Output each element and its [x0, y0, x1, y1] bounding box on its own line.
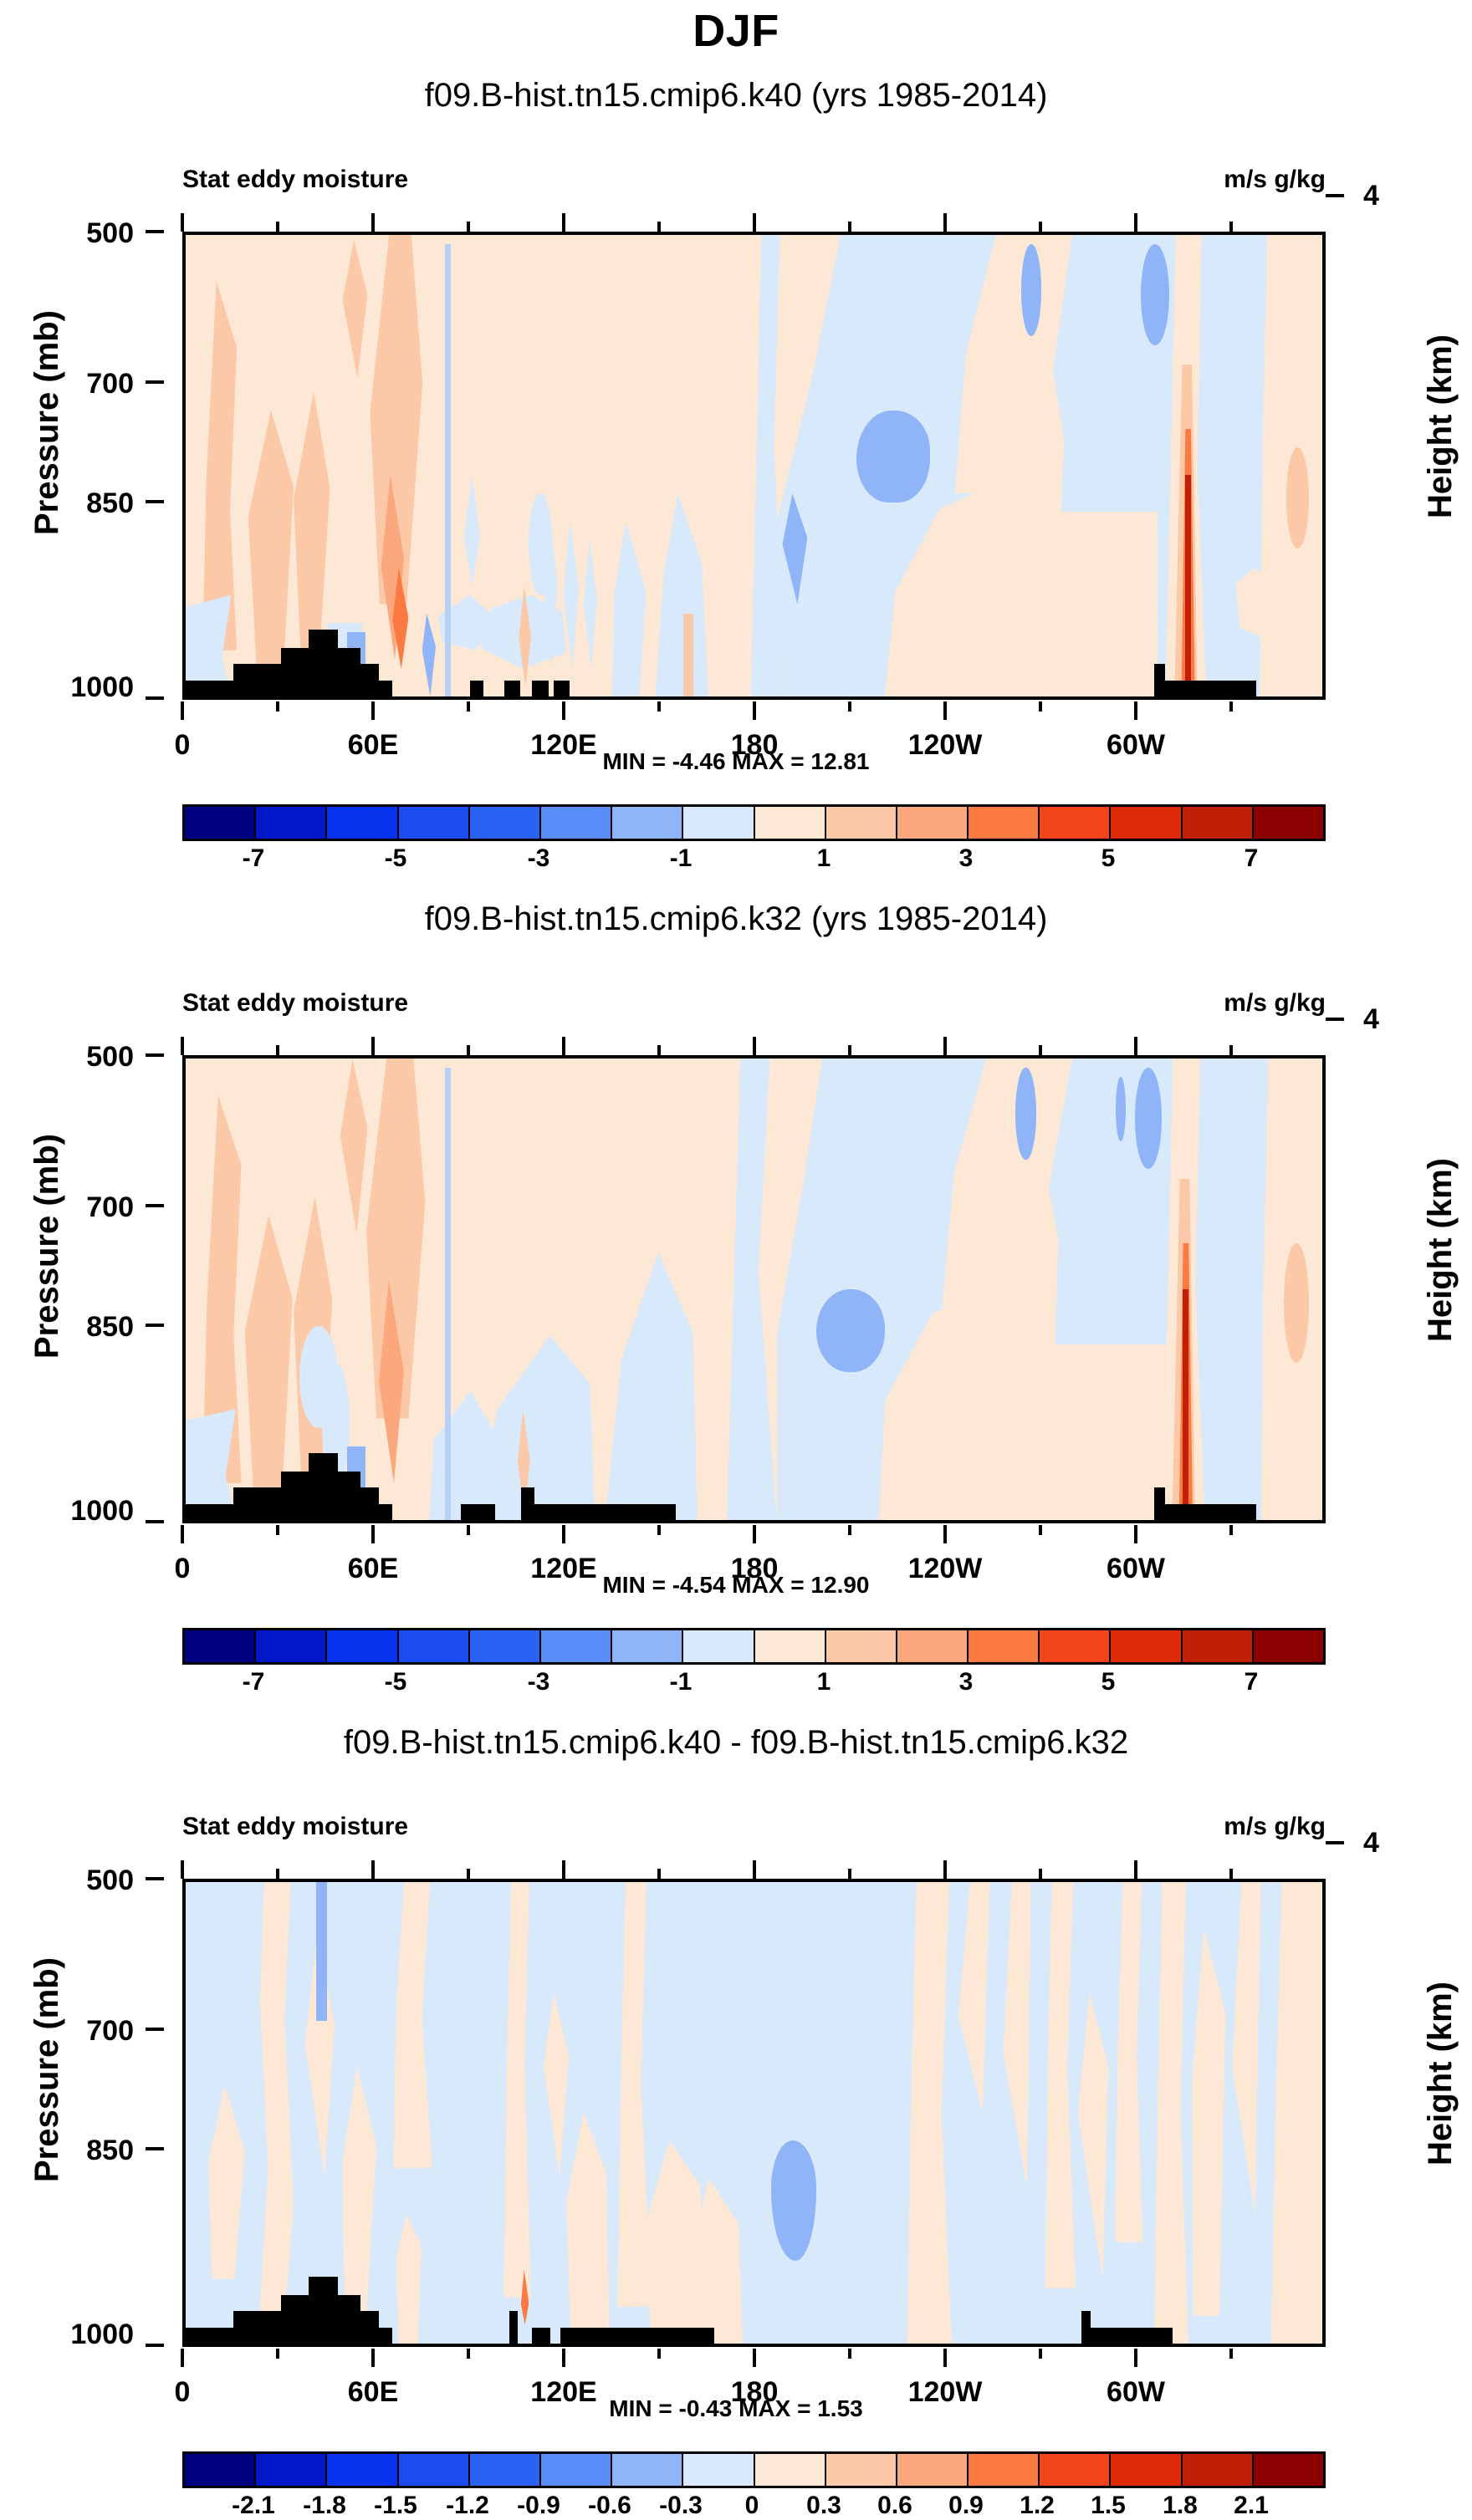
panel-3-xtick-minor: [1039, 2349, 1042, 2359]
panel-1-xtick-top: [753, 213, 756, 232]
panel-3-units-label: m/s g/kg: [1224, 1813, 1326, 1841]
colorbar-cell: [1254, 2454, 1323, 2486]
panel-1-variable-label: Stat eddy moisture: [182, 166, 408, 194]
panel-3-xtick-minor: [276, 2349, 279, 2359]
panel-3-plot-area: [182, 1879, 1326, 2347]
panel-3-xtick-top: [181, 1860, 184, 1879]
panel-1-cbar-label: -5: [385, 844, 407, 873]
panel-2-cbar-label: 7: [1245, 1668, 1259, 1696]
panel-3-ytick-mark: [146, 1877, 164, 1880]
panel-3-title: f09.B-hist.tn15.cmip6.k40 - f09.B-hist.t…: [0, 1724, 1472, 1762]
colorbar-cell: [185, 807, 256, 839]
panel-3-xtick-minor: [1229, 2349, 1233, 2359]
panel-1-xtick-top-minor: [657, 222, 661, 232]
colorbar-cell: [612, 807, 683, 839]
panel-2-xtick-mark: [943, 1525, 947, 1543]
panel-3-variable-label: Stat eddy moisture: [182, 1813, 408, 1841]
panel-1-cbar-label: 1: [817, 844, 831, 873]
panel-3-xtick-top-minor: [1229, 1869, 1233, 1879]
panel-2-cbar-label: -7: [243, 1668, 265, 1696]
colorbar-cell: [327, 807, 398, 839]
panel-2-xtick-mark: [753, 1525, 756, 1543]
panel-2-colorbar[interactable]: [182, 1628, 1326, 1665]
panel-2-ytick-1000: 1000: [0, 1495, 134, 1528]
panel-1-title: f09.B-hist.tn15.cmip6.k40 (yrs 1985-2014…: [0, 77, 1472, 115]
colorbar-cell: [1183, 807, 1254, 839]
panel-1-xtick-minor: [848, 701, 851, 712]
panel-3-ytick-850: 850: [25, 2135, 134, 2167]
panel-2-minmax: MIN = -4.54 MAX = 12.90: [0, 1572, 1472, 1599]
panel-3-cbar-label: 2.1: [1234, 2492, 1269, 2520]
panel-3-cbar-label: -1.2: [446, 2492, 489, 2520]
panel-3-xtick-mark: [753, 2349, 756, 2367]
panel-3-ytick-mark: [146, 2028, 164, 2031]
panel-2-field: [186, 1059, 1322, 1520]
colorbar-cell: [1111, 807, 1182, 839]
panel-3-cbar-label: 0: [745, 2492, 759, 2520]
panel-1-colorbar[interactable]: [182, 804, 1326, 841]
panel-2-xtick-minor: [848, 1525, 851, 1535]
panel-2-xtick-minor: [657, 1525, 661, 1535]
colorbar-cell: [1254, 1630, 1323, 1662]
panel-1-cbar-label: -3: [528, 844, 550, 873]
panel-2-cbar-label: -5: [385, 1668, 407, 1696]
colorbar-cell: [1254, 807, 1323, 839]
panel-1-xtick-top: [371, 213, 375, 232]
panel-1-xtick-mark: [1134, 701, 1137, 720]
panel-1-ytick-mark: [146, 380, 164, 384]
colorbar-cell: [185, 2454, 256, 2486]
colorbar-cell: [327, 1630, 398, 1662]
panel-3-xtick-top: [562, 1860, 565, 1879]
panel-3-xtick-top-minor: [467, 1869, 470, 1879]
panel-1-xtick-mark: [943, 701, 947, 720]
panel-1-xtick-minor: [1229, 701, 1233, 712]
panel-2-xtick-mark: [562, 1525, 565, 1543]
colorbar-cell: [969, 807, 1040, 839]
panel-3-ytick-mark: [146, 2344, 164, 2347]
panel-2-ytick-850: 850: [25, 1311, 134, 1344]
panel-3-xtick-top-minor: [848, 1869, 851, 1879]
panel-1-xtick-top: [562, 213, 565, 232]
panel-2-xtick-top: [181, 1037, 184, 1055]
figure-main-title: DJF: [0, 5, 1472, 57]
colorbar-cell: [755, 2454, 826, 2486]
panel-2-xtick-top-minor: [1229, 1045, 1233, 1055]
panel-3-cbar-label: -2.1: [232, 2492, 275, 2520]
panel-3-cbar-label: -0.6: [588, 2492, 631, 2520]
panel-2-cbar-label: -1: [670, 1668, 693, 1696]
colorbar-cell: [256, 1630, 327, 1662]
colorbar-cell: [541, 807, 612, 839]
panel-3-field: [186, 1882, 1322, 2344]
colorbar-cell: [1183, 1630, 1254, 1662]
panel-2-xtick-mark: [1134, 1525, 1137, 1543]
panel-1-xtick-minor: [657, 701, 661, 712]
panel-2-xtick-top: [943, 1037, 947, 1055]
panel-3-xtick-minor: [848, 2349, 851, 2359]
panel-1-xtick-top-minor: [1229, 222, 1233, 232]
colorbar-cell: [612, 2454, 683, 2486]
panel-1-ytick-1000: 1000: [0, 671, 134, 704]
panel-2-plot-area: [182, 1055, 1326, 1523]
colorbar-cell: [897, 807, 969, 839]
panel-2-ytick-700: 700: [25, 1191, 134, 1224]
panel-1-xtick-minor: [1039, 701, 1042, 712]
colorbar-cell: [826, 807, 897, 839]
colorbar-cell: [755, 1630, 826, 1662]
panel-1-cbar-label: 7: [1245, 844, 1259, 873]
panel-1-minmax: MIN = -4.46 MAX = 12.81: [0, 748, 1472, 775]
panel-2-ytick-mark: [146, 1053, 164, 1057]
panel-2-xtick-top: [371, 1037, 375, 1055]
panel-3-xtick-top: [753, 1860, 756, 1879]
panel-2-xtick-minor: [467, 1525, 470, 1535]
colorbar-cell: [1040, 807, 1111, 839]
panel-2-cbar-label: 3: [959, 1668, 974, 1696]
colorbar-cell: [470, 807, 541, 839]
panel-1-units-label: m/s g/kg: [1224, 166, 1326, 194]
panel-2-xtick-top: [753, 1037, 756, 1055]
colorbar-cell: [399, 2454, 470, 2486]
panel-3-xtick-top-minor: [1039, 1869, 1042, 1879]
panel-3-xtick-top-minor: [657, 1869, 661, 1879]
panel-1-xtick-top-minor: [276, 222, 279, 232]
panel-2-xtick-top-minor: [657, 1045, 661, 1055]
panel-3-cbar-label: 1.8: [1163, 2492, 1198, 2520]
panel-2-xtick-top: [562, 1037, 565, 1055]
colorbar-cell: [1040, 2454, 1111, 2486]
panel-2-xtick-minor: [276, 1525, 279, 1535]
panel-2-variable-label: Stat eddy moisture: [182, 989, 408, 1018]
panel-1-cbar-label: -7: [243, 844, 265, 873]
panel-1-xtick-top-minor: [848, 222, 851, 232]
panel-1-ytick-mark: [146, 230, 164, 233]
panel-3-xtick-mark: [562, 2349, 565, 2367]
panel-1-xtick-mark: [371, 701, 375, 720]
panel-3-cbar-label: 0.6: [877, 2492, 912, 2520]
colorbar-cell: [256, 807, 327, 839]
colorbar-cell: [256, 2454, 327, 2486]
panel-3-cbar-label: -0.9: [517, 2492, 560, 2520]
panel-1-xtick-top: [943, 213, 947, 232]
panel-3-xtick-top: [1134, 1860, 1137, 1879]
colorbar-cell: [612, 1630, 683, 1662]
panel-3-minmax: MIN = -0.43 MAX = 1.53: [0, 2395, 1472, 2422]
panel-3-xtick-minor: [467, 2349, 470, 2359]
colorbar-cell: [1111, 1630, 1182, 1662]
panel-3-xtick-top: [371, 1860, 375, 1879]
panel-2-xtick-minor: [1039, 1525, 1042, 1535]
panel-3-y-axis-right-title: Height (km): [1422, 1982, 1459, 2165]
colorbar-cell: [969, 1630, 1040, 1662]
panel-2-xtick-top-minor: [276, 1045, 279, 1055]
colorbar-cell: [755, 807, 826, 839]
panel-3-xtick-mark: [181, 2349, 184, 2367]
panel-3-cbar-label: 0.9: [948, 2492, 984, 2520]
panel-1-cbar-label: -1: [670, 844, 693, 873]
colorbar-cell: [683, 807, 754, 839]
panel-3-ytick-1000: 1000: [0, 2319, 134, 2351]
panel-2-ytick-mark: [146, 1520, 164, 1523]
panel-3-cbar-label: 1.5: [1091, 2492, 1126, 2520]
panel-2-xtick-minor: [1229, 1525, 1233, 1535]
colorbar-cell: [683, 1630, 754, 1662]
panel-2-ytick-500: 500: [25, 1041, 134, 1074]
panel-2-xtick-top: [1134, 1037, 1137, 1055]
colorbar-cell: [399, 807, 470, 839]
panel-1-xtick-minor: [467, 701, 470, 712]
panel-2-xtick-top-minor: [467, 1045, 470, 1055]
panel-1-ytick-500: 500: [25, 217, 134, 250]
panel-1-xtick-mark: [562, 701, 565, 720]
panel-2-ytick-mark: [146, 1204, 164, 1207]
colorbar-cell: [185, 1630, 256, 1662]
panel-2-xtick-mark: [181, 1525, 184, 1543]
panel-2-xtick-top-minor: [848, 1045, 851, 1055]
panel-2-yright-4: 4: [1363, 1003, 1379, 1036]
colorbar-cell: [897, 2454, 969, 2486]
panel-1-ytick-mark: [146, 696, 164, 700]
panel-1-y-axis-right-title: Height (km): [1422, 334, 1459, 518]
panel-2-cbar-label: -3: [528, 1668, 550, 1696]
panel-1-yright-tick-mark: [1326, 194, 1344, 197]
colorbar-cell: [541, 1630, 612, 1662]
colorbar-cell: [1183, 2454, 1254, 2486]
panel-3-cbar-label: 0.3: [806, 2492, 841, 2520]
panel-1-xtick-top-minor: [467, 222, 470, 232]
colorbar-cell: [541, 2454, 612, 2486]
panel-3-xtick-mark: [943, 2349, 947, 2367]
panel-3-ytick-500: 500: [25, 1864, 134, 1897]
panel-1-xtick-mark: [753, 701, 756, 720]
panel-1-ytick-mark: [146, 500, 164, 503]
panel-2-units-label: m/s g/kg: [1224, 989, 1326, 1018]
colorbar-cell: [399, 1630, 470, 1662]
colorbar-cell: [826, 2454, 897, 2486]
panel-1-xtick-top: [1134, 213, 1137, 232]
panel-2-title: f09.B-hist.tn15.cmip6.k32 (yrs 1985-2014…: [0, 900, 1472, 938]
colorbar-cell: [327, 2454, 398, 2486]
colorbar-cell: [683, 2454, 754, 2486]
panel-2-xtick-mark: [371, 1525, 375, 1543]
panel-1-yright-4: 4: [1363, 180, 1379, 212]
panel-3-yright-tick-mark: [1326, 1841, 1344, 1844]
panel-2-y-axis-right-title: Height (km): [1422, 1158, 1459, 1342]
panel-2-cbar-label: 1: [817, 1668, 831, 1696]
panel-2-yright-tick-mark: [1326, 1018, 1344, 1021]
colorbar-cell: [1111, 2454, 1182, 2486]
panel-3-ytick-mark: [146, 2147, 164, 2150]
panel-3-cbar-label: -1.5: [374, 2492, 417, 2520]
panel-3-xtick-top: [943, 1860, 947, 1879]
panel-1-ytick-850: 850: [25, 487, 134, 520]
panel-1-field: [186, 235, 1322, 696]
panel-1-cbar-label: 5: [1101, 844, 1116, 873]
panel-3-cbar-label: -0.3: [659, 2492, 703, 2520]
panel-3-xtick-minor: [657, 2349, 661, 2359]
panel-3-cbar-label: 1.2: [1020, 2492, 1055, 2520]
colorbar-cell: [1040, 1630, 1111, 1662]
colorbar-cell: [969, 2454, 1040, 2486]
panel-2-cbar-label: 5: [1101, 1668, 1116, 1696]
panel-1-xtick-top: [181, 213, 184, 232]
colorbar-cell: [897, 1630, 969, 1662]
colorbar-cell: [470, 1630, 541, 1662]
panel-1-ytick-700: 700: [25, 368, 134, 400]
panel-3-cbar-label: -1.8: [303, 2492, 346, 2520]
panel-1-xtick-mark: [181, 701, 184, 720]
panel-2-xtick-top-minor: [1039, 1045, 1042, 1055]
panel-1-cbar-label: 3: [959, 844, 974, 873]
panel-3-yright-4: 4: [1363, 1827, 1379, 1859]
panel-3-xtick-top-minor: [276, 1869, 279, 1879]
panel-3-colorbar[interactable]: [182, 2451, 1326, 2488]
colorbar-cell: [470, 2454, 541, 2486]
panel-3-ytick-700: 700: [25, 2015, 134, 2048]
panel-3-xtick-mark: [371, 2349, 375, 2367]
panel-2-ytick-mark: [146, 1324, 164, 1327]
panel-1-xtick-top-minor: [1039, 222, 1042, 232]
panel-1-plot-area: [182, 232, 1326, 700]
panel-3-xtick-mark: [1134, 2349, 1137, 2367]
colorbar-cell: [826, 1630, 897, 1662]
panel-1-xtick-minor: [276, 701, 279, 712]
